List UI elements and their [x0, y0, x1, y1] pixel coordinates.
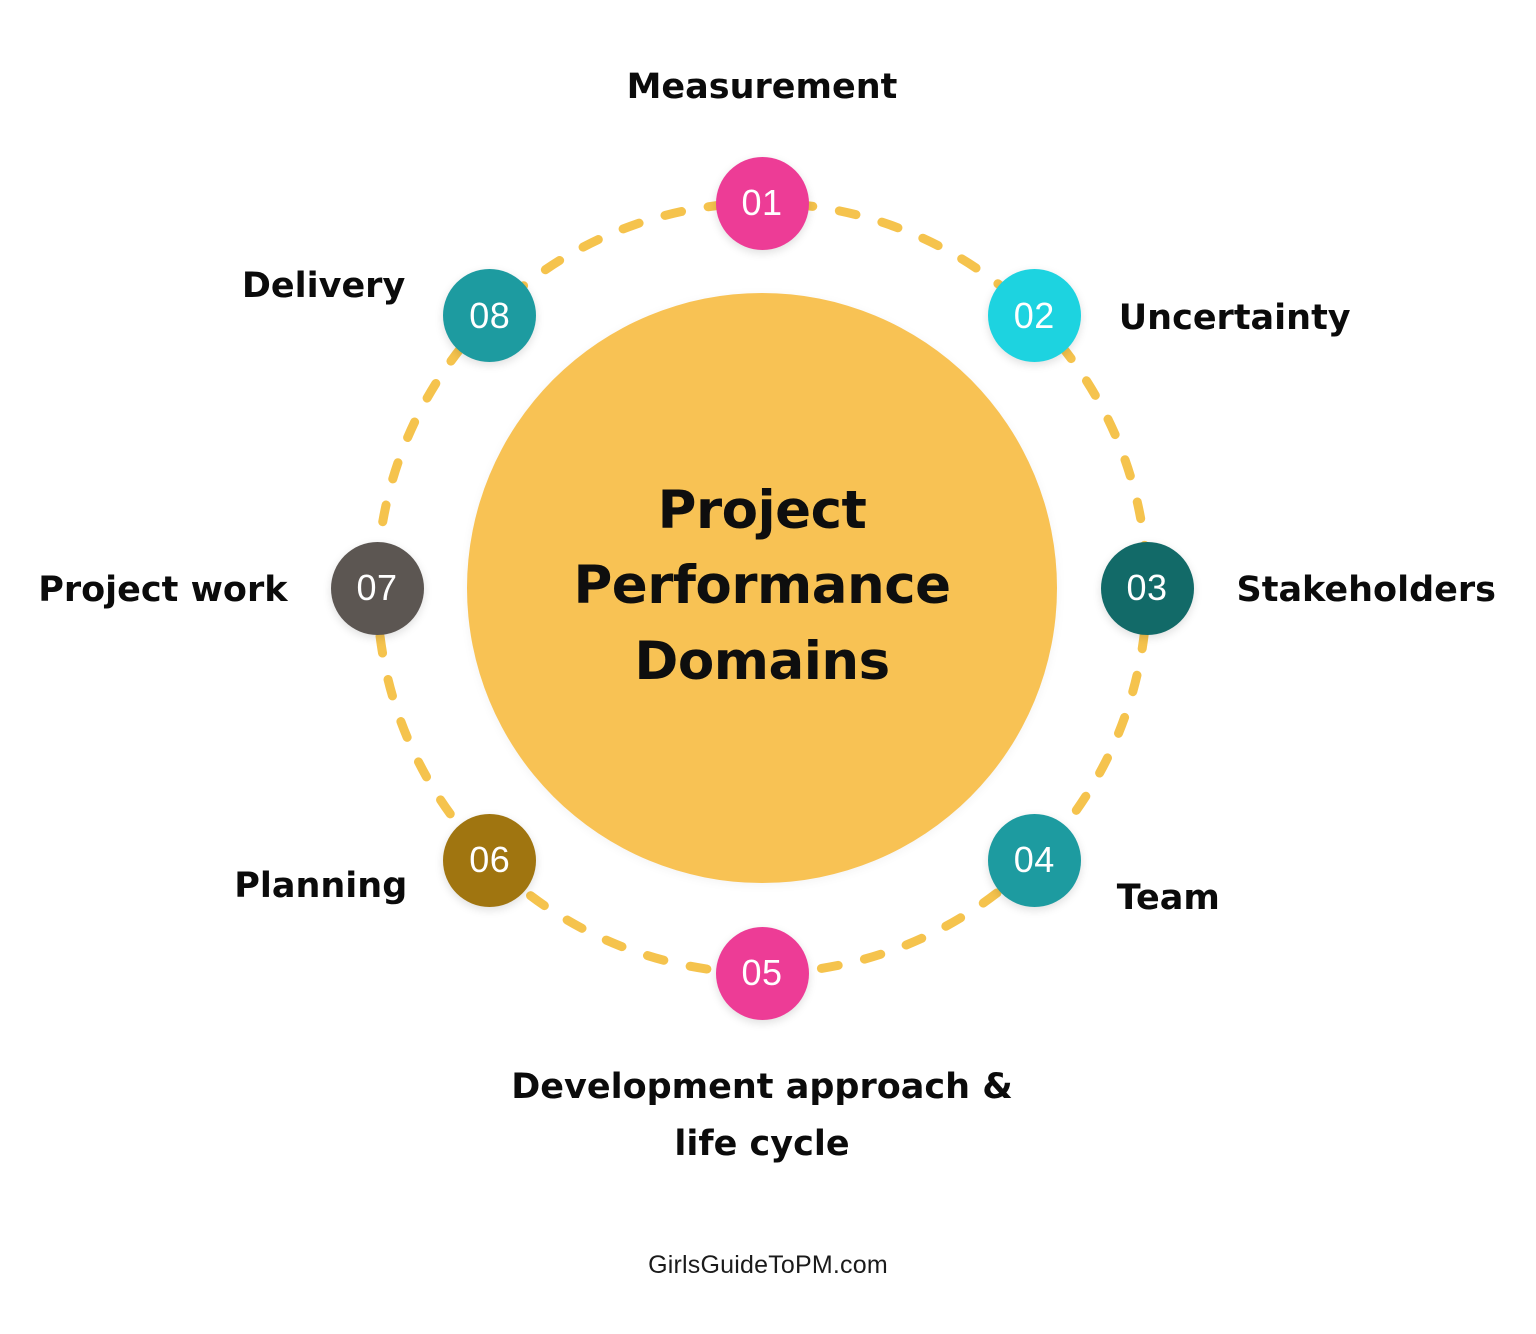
node-circle-04[interactable]: 04: [988, 814, 1081, 907]
node-circle-08[interactable]: 08: [443, 269, 536, 362]
hub-title: Project Performance Domains: [573, 473, 950, 703]
infographic-canvas: Project Performance Domains 01 Measureme…: [0, 0, 1536, 1334]
center-hub: Project Performance Domains: [467, 293, 1057, 883]
node-number-01: 01: [741, 182, 782, 224]
node-number-05: 05: [741, 952, 782, 994]
node-label-project-work: Project work: [38, 562, 287, 619]
node-circle-05[interactable]: 05: [716, 927, 809, 1020]
footer-credit: GirlsGuideToPM.com: [0, 1251, 1536, 1280]
node-label-delivery: Delivery: [242, 258, 405, 315]
node-circle-01[interactable]: 01: [716, 157, 809, 250]
node-label-planning: Planning: [234, 858, 407, 915]
node-number-07: 07: [356, 567, 397, 609]
node-label-team: Team: [1117, 870, 1220, 927]
node-label-measurement: Measurement: [0, 59, 1530, 116]
node-label-stakeholders: Stakeholders: [1237, 562, 1496, 619]
node-circle-03[interactable]: 03: [1101, 542, 1194, 635]
node-number-02: 02: [1014, 295, 1055, 337]
node-label-uncertainty: Uncertainty: [1119, 290, 1351, 347]
node-label-development-approach-life-cycle: Development approach & life cycle: [0, 1059, 1530, 1172]
node-circle-07[interactable]: 07: [331, 542, 424, 635]
node-circle-06[interactable]: 06: [443, 814, 536, 907]
node-number-03: 03: [1126, 567, 1167, 609]
node-circle-02[interactable]: 02: [988, 269, 1081, 362]
node-number-08: 08: [469, 295, 510, 337]
node-number-06: 06: [469, 839, 510, 881]
node-number-04: 04: [1014, 839, 1055, 881]
